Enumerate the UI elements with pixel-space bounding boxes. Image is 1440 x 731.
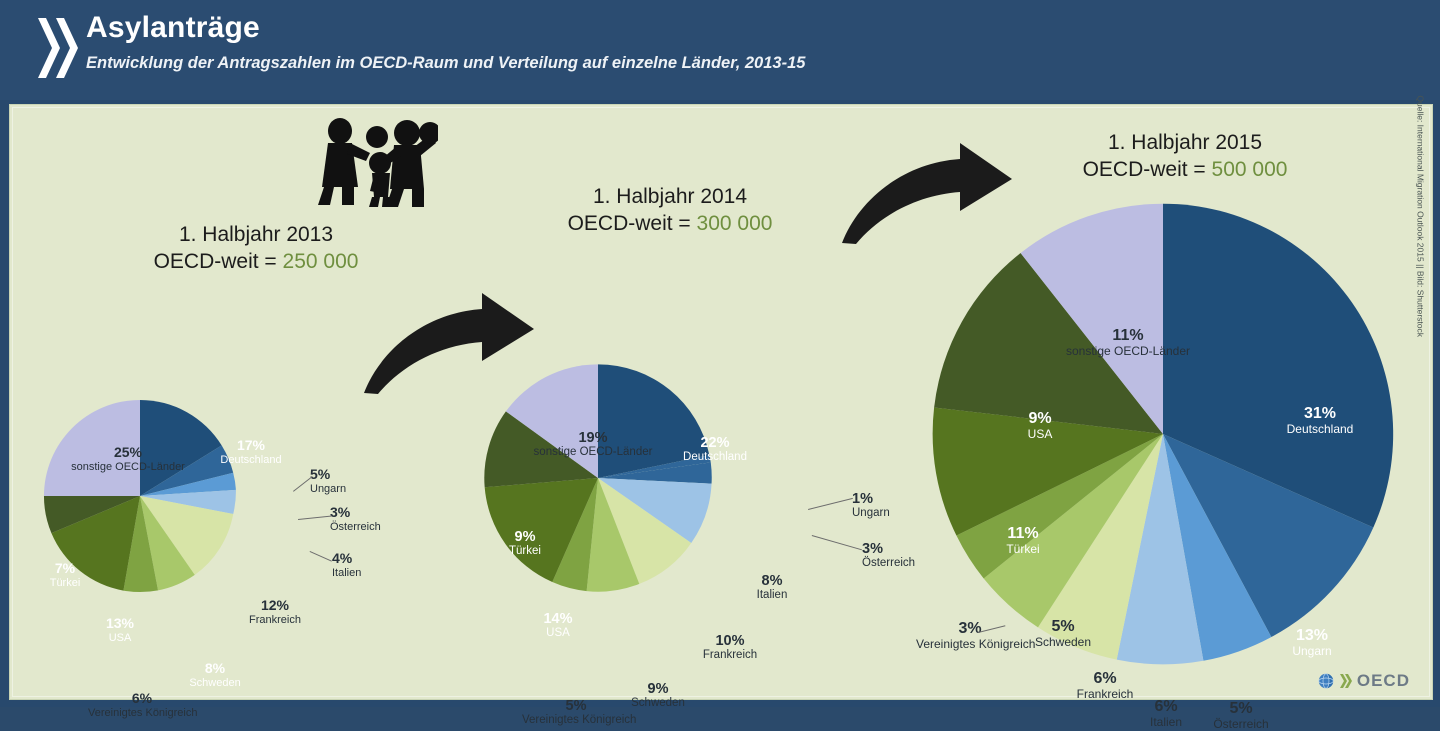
slice-label-2014-frankreich: 10% Frankreich bbox=[675, 633, 785, 662]
chart-2015-caption: 1. Halbjahr 2015 OECD-weit = 500 000 bbox=[1020, 129, 1350, 183]
slice-label-2013-oesterreich: 3% Österreich bbox=[330, 505, 426, 533]
slice-label-2015-frankreich: 6% Frankreich bbox=[1050, 670, 1160, 701]
slice-label-2014-schweden: 9% Schweden bbox=[608, 681, 708, 710]
content-panel: 1. Halbjahr 2013 OECD-weit = 250 000 bbox=[9, 104, 1433, 700]
chart-2014-pie bbox=[482, 362, 714, 594]
slice-label-2014-ungarn: 1% Ungarn bbox=[852, 491, 932, 520]
page-subtitle: Entwicklung der Antragszahlen im OECD-Ra… bbox=[86, 50, 805, 76]
page-title: Asylanträge bbox=[86, 8, 805, 48]
oecd-logo: OECD bbox=[1318, 671, 1410, 691]
chart-2013-caption: 1. Halbjahr 2013 OECD-weit = 250 000 bbox=[106, 221, 406, 275]
slice-label-2013-usa: 13% USA bbox=[72, 616, 168, 644]
pie-svg-2013 bbox=[42, 398, 238, 594]
chart-2013-total: OECD-weit = 250 000 bbox=[106, 248, 406, 275]
chart-2014-total: OECD-weit = 300 000 bbox=[510, 210, 830, 237]
slice-label-2013-italien: 4% Italien bbox=[332, 551, 412, 579]
slice-label-2015-italien: 6% Italien bbox=[1120, 698, 1212, 729]
double-chevron-icon bbox=[30, 12, 84, 84]
oecd-logo-text: OECD bbox=[1357, 671, 1410, 691]
header-text-block: Asylanträge Entwicklung der Antragszahle… bbox=[86, 8, 805, 76]
chart-2014-title: 1. Halbjahr 2014 bbox=[510, 183, 830, 210]
slice-label-2013-ungarn: 5% Ungarn bbox=[310, 467, 390, 495]
infographic-poster: Asylanträge Entwicklung der Antragszahle… bbox=[0, 0, 1440, 707]
source-note: Quelle: International Migration Outlook … bbox=[1416, 95, 1426, 337]
leader-line-2013-italien bbox=[310, 551, 332, 562]
leader-line-2013-ungarn bbox=[293, 476, 313, 492]
chart-2014-caption: 1. Halbjahr 2014 OECD-weit = 300 000 bbox=[510, 183, 830, 237]
header-bar: Asylanträge Entwicklung der Antragszahle… bbox=[0, 0, 1440, 100]
chart-2015-total: OECD-weit = 500 000 bbox=[1020, 156, 1350, 183]
leader-line-2013-oesterreich bbox=[298, 515, 332, 520]
pie-svg-2014 bbox=[482, 362, 714, 594]
chart-2013-title: 1. Halbjahr 2013 bbox=[106, 221, 406, 248]
chart-2015-title: 1. Halbjahr 2015 bbox=[1020, 129, 1350, 156]
slice-label-2013-frankreich: 12% Frankreich bbox=[220, 598, 330, 626]
pie-svg-2015 bbox=[928, 199, 1398, 669]
chart-2013-pie bbox=[42, 398, 238, 594]
slice-label-2014-uk: 5% Vereinigtes Königreich bbox=[522, 698, 630, 727]
slice-label-2014-italien: 8% Italien bbox=[732, 573, 812, 602]
slice-label-2013-schweden: 8% Schweden bbox=[165, 661, 265, 689]
slice-label-2014-usa: 14% USA bbox=[510, 611, 606, 640]
slice-label-2013-uk: 6% Vereinigtes Königreich bbox=[88, 691, 196, 719]
oecd-chevron-icon bbox=[1338, 673, 1353, 689]
chart-2015-pie bbox=[928, 199, 1398, 669]
globe-icon bbox=[1318, 673, 1334, 689]
migrant-family-icon bbox=[314, 113, 438, 214]
leader-line-2014-oesterreich bbox=[812, 535, 862, 550]
leader-line-2014-ungarn bbox=[808, 498, 853, 510]
slice-label-2015-oesterreich: 5% Österreich bbox=[1190, 700, 1292, 731]
